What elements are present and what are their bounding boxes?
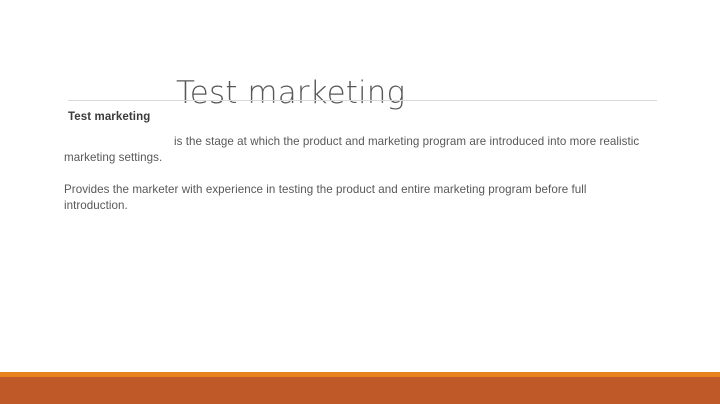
body-subheading: Test marketing (68, 108, 650, 126)
slide-canvas: Test marketing Test marketing is the sta… (0, 0, 720, 404)
body-content: Test marketing is the stage at which the… (64, 108, 650, 213)
body-paragraph-1: is the stage at which the product and ma… (64, 134, 650, 165)
body-paragraph-2: Provides the marketer with experience in… (64, 182, 650, 213)
title-divider (68, 100, 657, 101)
footer-accent-bar-dark (0, 377, 720, 404)
page-title: Test marketing (176, 73, 405, 113)
